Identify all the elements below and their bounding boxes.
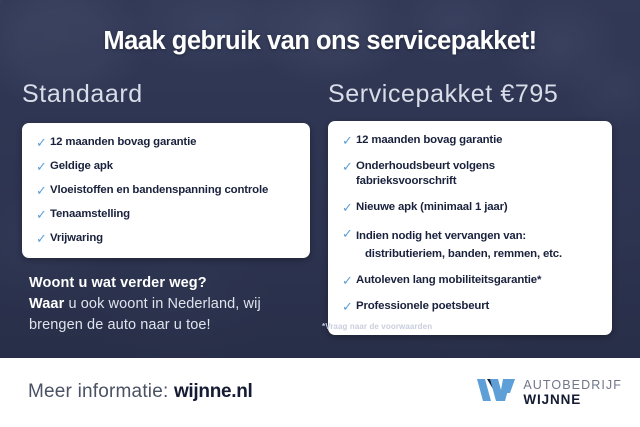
- promo-line-3: brengen de auto naar u toe!: [29, 315, 319, 336]
- promo-line-1: Woont u wat verder weg?: [29, 273, 319, 294]
- page-title: Maak gebruik van ons servicepakket!: [0, 27, 640, 56]
- standaard-feature-card: ✓ 12 maanden bovag garantie ✓ Geldige ap…: [22, 123, 310, 258]
- list-item-continuation: distributieriem, banden, remmen, etc.: [365, 246, 562, 262]
- logo-line-autobedrijf: AUTOBEDRIJF: [523, 379, 622, 392]
- check-icon: ✓: [342, 299, 356, 314]
- list-item-label: Geldige apk: [50, 159, 113, 174]
- check-icon: ✓: [36, 159, 50, 174]
- more-info-text: Meer informatie: wijnne.nl: [28, 381, 253, 403]
- logo-wordmark: AUTOBEDRIJF WIJNNE: [523, 379, 622, 407]
- promo-emphasis-waar: Waar: [29, 296, 64, 312]
- list-item: ✓ 12 maanden bovag garantie: [342, 133, 598, 148]
- list-item: ✓ Indien nodig het vervangen van: distri…: [342, 226, 598, 262]
- promo-line-1-text: Woont u wat verder weg?: [29, 275, 207, 291]
- more-info-prefix: Meer informatie:: [28, 381, 174, 402]
- list-item: ✓ Onderhoudsbeurt volgens fabrieksvoorsc…: [342, 159, 598, 189]
- logo-line-wijnne: WIJNNE: [523, 393, 622, 407]
- list-item: ✓ Nieuwe apk (minimaal 1 jaar): [342, 200, 598, 215]
- list-item-label: Autoleven lang mobiliteitsgarantie*: [356, 273, 541, 288]
- delivery-promo-text: Woont u wat verder weg? Waar u ook woont…: [29, 273, 319, 336]
- list-item: ✓ Vloeistoffen en bandenspanning control…: [36, 183, 296, 198]
- list-item-label: Professionele poetsbeurt: [356, 299, 489, 314]
- check-icon: ✓: [36, 207, 50, 222]
- list-item-label: Nieuwe apk (minimaal 1 jaar): [356, 200, 508, 215]
- check-icon: ✓: [342, 159, 356, 174]
- list-item-label: Indien nodig het vervangen van:: [356, 230, 526, 242]
- column-heading-standaard: Standaard: [22, 80, 143, 109]
- list-item-label: Onderhoudsbeurt volgens fabrieksvoorschr…: [356, 159, 598, 189]
- company-logo: AUTOBEDRIJF WIJNNE: [477, 377, 622, 408]
- check-icon: ✓: [342, 273, 356, 288]
- list-item-label: 12 maanden bovag garantie: [356, 133, 502, 148]
- list-item: ✓ Tenaamstelling: [36, 207, 296, 222]
- list-item: ✓ Autoleven lang mobiliteitsgarantie*: [342, 273, 598, 288]
- check-icon: ✓: [342, 200, 356, 215]
- list-item-label: 12 maanden bovag garantie: [50, 135, 196, 150]
- list-item: ✓ Geldige apk: [36, 159, 296, 174]
- check-icon: ✓: [342, 226, 356, 241]
- wijnne-w-logo-icon: [477, 377, 515, 408]
- service-package-banner: Maak gebruik van ons servicepakket! Stan…: [0, 0, 640, 427]
- footer-bar: Meer informatie: wijnne.nl AUTOBEDRIJF W…: [0, 358, 640, 427]
- website-link[interactable]: wijnne.nl: [174, 381, 253, 402]
- promo-line-2: Waar u ook woont in Nederland, wij: [29, 294, 319, 315]
- promo-line-2-rest: u ook woont in Nederland, wij: [64, 296, 260, 312]
- list-item-label: Vloeistoffen en bandenspanning controle: [50, 183, 268, 198]
- list-item-label-wrapper: Indien nodig het vervangen van: distribu…: [356, 226, 562, 262]
- list-item: ✓ 12 maanden bovag garantie: [36, 135, 296, 150]
- list-item-label: Tenaamstelling: [50, 207, 130, 222]
- check-icon: ✓: [36, 183, 50, 198]
- list-item-label: Vrijwaring: [50, 231, 103, 246]
- terms-footnote: *Vraag naar de voorwaarden: [322, 322, 432, 331]
- check-icon: ✓: [342, 133, 356, 148]
- list-item: ✓ Professionele poetsbeurt: [342, 299, 598, 314]
- column-heading-servicepakket: Servicepakket €795: [328, 80, 558, 109]
- list-item: ✓ Vrijwaring: [36, 231, 296, 246]
- check-icon: ✓: [36, 231, 50, 246]
- servicepakket-feature-card: ✓ 12 maanden bovag garantie ✓ Onderhouds…: [328, 121, 612, 335]
- check-icon: ✓: [36, 135, 50, 150]
